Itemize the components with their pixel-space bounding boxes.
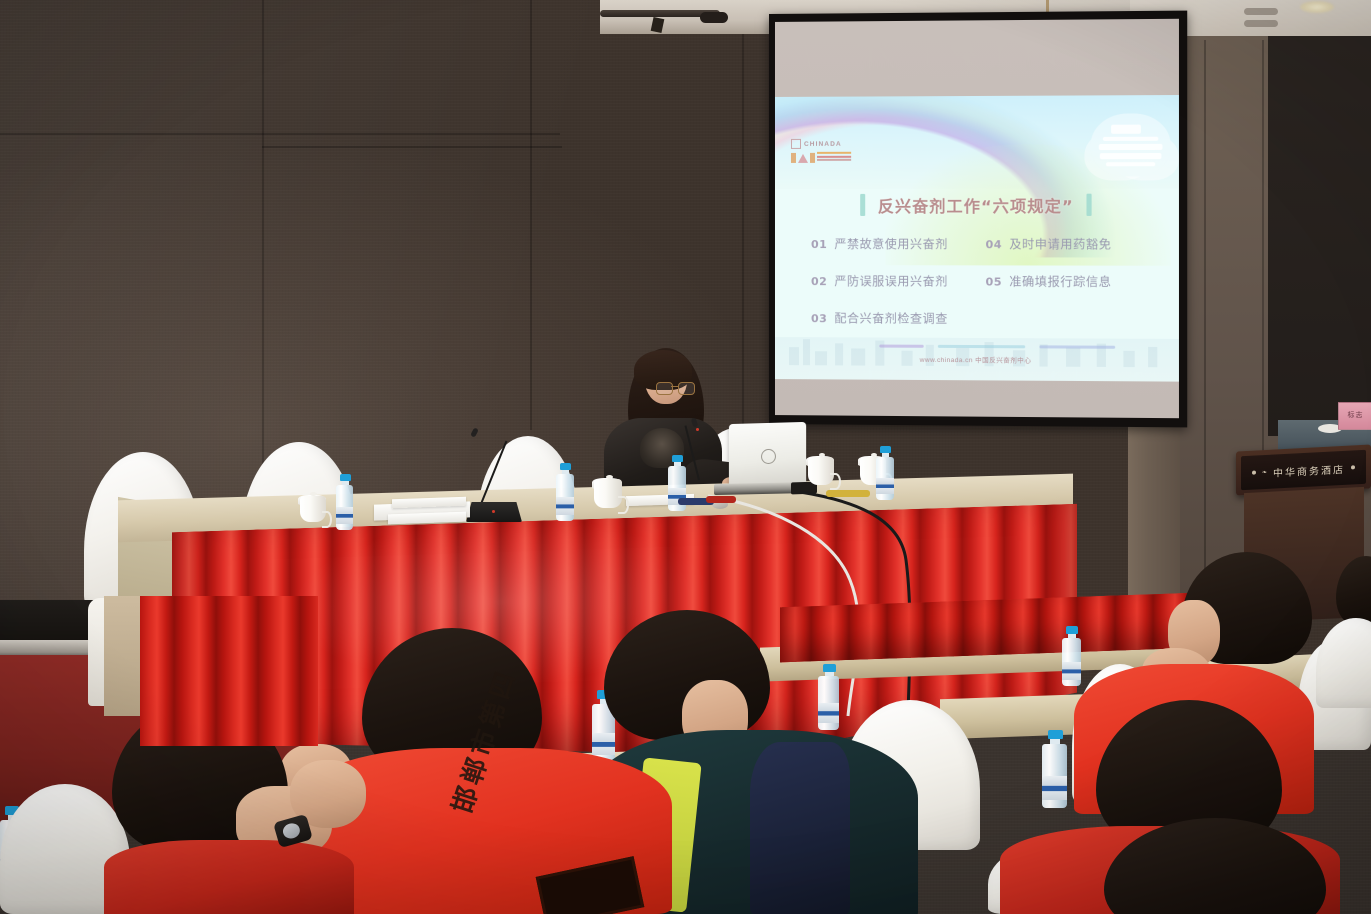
slide-title-row: 反兴奋剂工作“六项规定” xyxy=(775,193,1179,217)
cloud-badge-icon xyxy=(1091,113,1171,176)
red-curtain xyxy=(140,596,318,746)
list-item-text: 准确填报行踪信息 xyxy=(1009,273,1111,290)
jersey-number-patch xyxy=(536,856,645,914)
attendee-jersey xyxy=(104,840,354,914)
logo-stripes-icon xyxy=(817,152,851,163)
list-item: 02 严防误服误用兴奋剂 xyxy=(811,272,969,289)
ceiling-vent xyxy=(1244,20,1278,27)
slide-list-left-column: 01 严禁故意使用兴奋剂 02 严防误服误用兴奋剂 03 配合兴奋剂检查调查 xyxy=(811,235,969,347)
watch-face xyxy=(281,821,301,840)
list-item: 05 准确填报行踪信息 xyxy=(986,272,1146,290)
sign-dot xyxy=(1252,470,1256,474)
list-item: 04 及时申请用药豁免 xyxy=(986,235,1146,252)
logo-square-icon xyxy=(791,139,801,149)
teacup xyxy=(298,495,328,531)
attendee-bag xyxy=(750,742,850,914)
logo-top-row: CHINADA xyxy=(791,139,871,149)
screen-canvas: CHINADA 反兴奋剂工作“六项规定” xyxy=(775,19,1179,418)
water-bottle xyxy=(1062,626,1082,686)
ceiling-mount-rod xyxy=(700,12,728,23)
logo-bar-icon xyxy=(810,152,815,162)
list-item-text: 严禁故意使用兴奋剂 xyxy=(834,235,947,252)
logo-triangle-icon xyxy=(798,153,808,162)
projector-screen: CHINADA 反兴奋剂工作“六项规定” xyxy=(769,11,1187,428)
dell-logo-icon xyxy=(761,449,776,464)
list-item-text: 配合兴奋剂检查调查 xyxy=(834,309,947,327)
slide-title: 反兴奋剂工作“六项规定” xyxy=(878,193,1074,217)
list-item-number: 01 xyxy=(811,238,827,251)
wall-seam xyxy=(530,0,532,430)
conference-photo: 标志 CHINADA xyxy=(0,0,1371,914)
list-item: 01 严禁故意使用兴奋剂 xyxy=(811,235,969,252)
wall-seam xyxy=(0,133,560,135)
ceiling-light xyxy=(1300,1,1334,13)
water-bottle xyxy=(818,664,840,730)
title-bar-left xyxy=(861,194,866,216)
list-item-number: 05 xyxy=(986,275,1003,288)
water-bottle xyxy=(336,474,354,530)
presentation-slide: CHINADA 反兴奋剂工作“六项规定” xyxy=(775,95,1179,382)
curtain-edge xyxy=(104,596,144,716)
laptop-lid xyxy=(729,422,806,485)
slide-list: 01 严禁故意使用兴奋剂 02 严防误服误用兴奋剂 03 配合兴奋剂检查调查 xyxy=(811,235,1146,348)
teacup xyxy=(592,478,626,518)
podium-sign-text: 中华商务酒店 xyxy=(1273,460,1345,479)
list-item-number: 03 xyxy=(811,312,827,325)
title-bar-right xyxy=(1086,194,1091,216)
chinada-logo: CHINADA xyxy=(791,139,871,165)
water-bottle xyxy=(556,463,575,521)
wall-seam xyxy=(1204,40,1206,580)
wall-seam xyxy=(742,0,744,470)
back-sign: 标志 xyxy=(1338,402,1371,430)
sign-dot xyxy=(1351,465,1355,469)
wall-seam xyxy=(262,146,562,148)
teacup xyxy=(806,456,838,494)
side-doorway xyxy=(1268,36,1371,436)
logo-bottom-row xyxy=(791,152,871,163)
logo-bar-icon xyxy=(791,152,796,162)
cable-connector xyxy=(706,496,736,503)
list-item-number: 04 xyxy=(986,238,1003,251)
slide-footer-band: www.chinada.cn 中国反兴奋剂中心 xyxy=(775,337,1179,382)
ceiling-vent xyxy=(1244,8,1278,15)
hotel-emblem-icon: ❧ xyxy=(1262,468,1267,475)
list-item-text: 严防误服误用兴奋剂 xyxy=(834,272,947,289)
logo-wordmark: CHINADA xyxy=(804,140,842,147)
list-item: 03 配合兴奋剂检查调查 xyxy=(811,309,969,327)
slide-list-right-column: 04 及时申请用药豁免 05 准确填报行踪信息 xyxy=(986,235,1146,348)
cloud-badge-lines xyxy=(1091,121,1171,169)
presenter-glasses xyxy=(656,382,694,394)
list-item-number: 02 xyxy=(811,275,827,288)
cable-connector xyxy=(826,490,870,497)
back-sign-label: 标志 xyxy=(1339,403,1371,429)
list-item-text: 及时申请用药豁免 xyxy=(1009,235,1111,252)
wall-seam xyxy=(262,0,264,470)
water-bottle xyxy=(1042,730,1068,808)
